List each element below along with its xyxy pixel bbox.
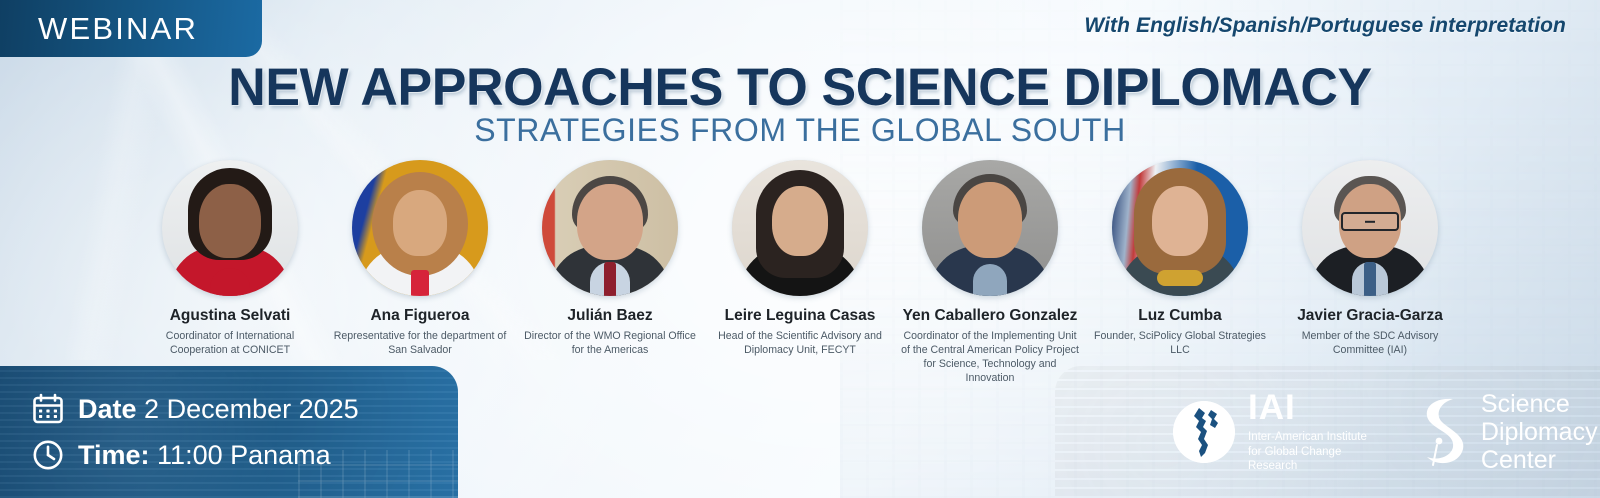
webinar-badge-label: WEBINAR [0, 11, 198, 47]
speaker-name: Luz Cumba [1138, 307, 1222, 325]
speaker-card: Javier Gracia-Garza Member of the SDC Ad… [1275, 160, 1465, 358]
sdc-line-1: Science [1481, 390, 1598, 418]
calendar-icon [32, 393, 64, 425]
event-time-row: Time: 11:00 Panama [0, 432, 458, 478]
speaker-card: Ana Figueroa Representative for the depa… [325, 160, 515, 358]
speaker-card: Yen Caballero Gonzalez Coordinator of th… [895, 160, 1085, 386]
avatar [1302, 160, 1438, 296]
speaker-card: Leire Leguina Casas Head of the Scientif… [705, 160, 895, 358]
speaker-role: Founder, SciPolicy Global Strategies LLC [1088, 330, 1272, 358]
avatar [162, 160, 298, 296]
iai-line-1: Inter-American Institute [1248, 430, 1367, 445]
avatar [922, 160, 1058, 296]
speaker-role: Director of the WMO Regional Office for … [518, 330, 702, 358]
speaker-role: Representative for the department of San… [328, 330, 512, 358]
iai-line-3: Research [1248, 459, 1367, 474]
event-time-label: Time: [78, 440, 150, 470]
interpretation-note: With English/Spanish/Portuguese interpre… [1084, 14, 1566, 38]
event-info-panel: Date 2 December 2025 Time: 11:00 Panama [0, 366, 458, 498]
page-subtitle: STRATEGIES FROM THE GLOBAL SOUTH [0, 112, 1600, 149]
avatar [1112, 160, 1248, 296]
speaker-name: Agustina Selvati [170, 307, 291, 325]
speaker-card: Agustina Selvati Coordinator of Internat… [135, 160, 325, 358]
speaker-name: Leire Leguina Casas [725, 307, 876, 325]
speaker-role: Member of the SDC Advisory Committee (IA… [1278, 330, 1462, 358]
iai-line-2: for Global Change [1248, 445, 1367, 460]
event-date-label: Date [78, 394, 137, 424]
sdc-logo-text: Science Diplomacy Center [1481, 390, 1598, 474]
speakers-list: Agustina Selvati Coordinator of Internat… [0, 160, 1600, 360]
sdc-line-2: Diplomacy [1481, 418, 1598, 446]
eyeglasses-icon [1341, 212, 1399, 231]
event-time-value: 11:00 Panama [157, 440, 331, 470]
speaker-role: Head of the Scientific Advisory and Dipl… [708, 330, 892, 358]
avatar [542, 160, 678, 296]
page-title: NEW APPROACHES TO SCIENCE DIPLOMACY [16, 57, 1584, 118]
avatar [732, 160, 868, 296]
webinar-banner: WEBINAR With English/Spanish/Portuguese … [0, 0, 1600, 498]
sdc-logo: Science Diplomacy Center [1413, 390, 1598, 474]
speaker-role: Coordinator of International Cooperation… [138, 330, 322, 358]
sdc-swoosh-icon [1413, 395, 1469, 469]
globe-icon [1173, 401, 1235, 463]
webinar-badge: WEBINAR [0, 0, 262, 57]
speaker-name: Julián Baez [567, 307, 652, 325]
speaker-card: Julián Baez Director of the WMO Regional… [515, 160, 705, 358]
clock-icon [32, 439, 64, 471]
event-date-value: 2 December 2025 [144, 394, 359, 424]
sdc-line-3: Center [1481, 446, 1598, 474]
logos-panel: IAI Inter-American Institute for Global … [1055, 366, 1600, 498]
speaker-card: Luz Cumba Founder, SciPolicy Global Stra… [1085, 160, 1275, 358]
avatar [352, 160, 488, 296]
iai-logo: IAI Inter-American Institute for Global … [1173, 390, 1367, 474]
event-date-text: Date 2 December 2025 [78, 394, 359, 425]
speaker-name: Javier Gracia-Garza [1297, 307, 1443, 325]
iai-logo-text: IAI Inter-American Institute for Global … [1248, 390, 1367, 474]
event-date-row: Date 2 December 2025 [0, 386, 458, 432]
event-time-text: Time: 11:00 Panama [78, 440, 331, 471]
iai-acronym: IAI [1248, 390, 1367, 425]
speaker-name: Ana Figueroa [370, 307, 469, 325]
speaker-name: Yen Caballero Gonzalez [903, 307, 1078, 325]
